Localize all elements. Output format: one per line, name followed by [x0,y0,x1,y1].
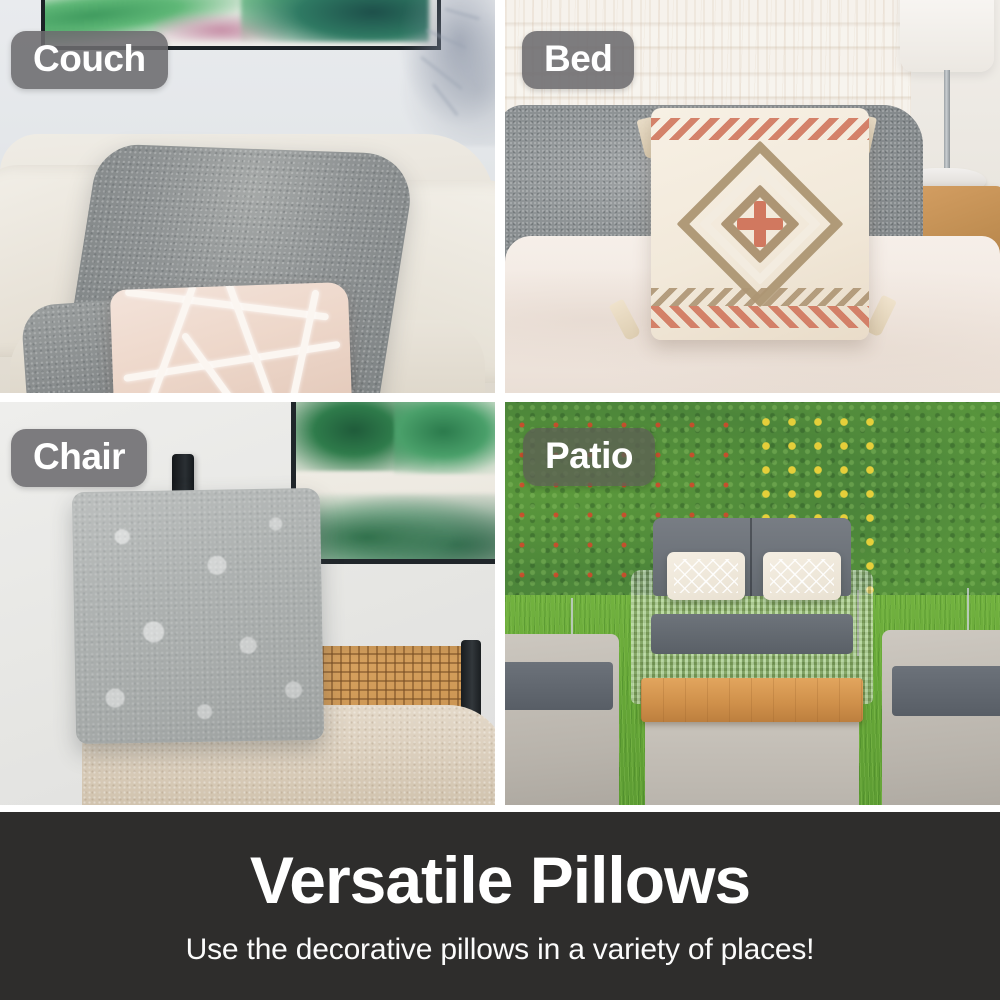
panel-chair: Chair [0,402,495,805]
pillow-zigzag-top [651,118,869,140]
badge-chair: Chair [11,429,147,487]
photo-panel-grid: Couch [0,0,1000,812]
badge-chair-label: Chair [33,436,125,478]
banner-subtitle: Use the decorative pillows in a variety … [186,933,815,967]
patio-chair-right-cushion [892,666,1000,716]
chair-photo: Chair [0,402,495,805]
cream-pillow-right [763,552,841,600]
loveseat-seat-cushions [651,614,853,654]
badge-couch: Couch [11,31,168,89]
couch-photo: Couch [0,0,495,393]
frosted-branch-decor [385,0,495,146]
pillow-zigzag-bottom [651,306,869,328]
panel-couch: Couch [0,0,495,393]
cream-pillow-left [667,552,745,600]
botanical-wall-art [291,402,495,564]
product-infographic: Couch [0,0,1000,1000]
banner-title: Versatile Pillows [250,847,750,913]
boho-diamond-pillow [651,108,869,340]
patio-chair-right [882,630,1000,805]
badge-patio-label: Patio [545,435,633,477]
patio-photo: Patio [505,402,1000,805]
bed-photo: Bed [505,0,1000,393]
lamp-stem [944,70,950,174]
pillow-center-cross [737,201,783,247]
patio-coffee-table [645,704,859,805]
gray-tufted-pillow [72,488,324,744]
lamp-shade [900,0,994,72]
sofa-body [0,134,495,393]
pillow-zigzag-tan [651,288,869,306]
badge-bed-label: Bed [544,38,612,80]
wood-table-top [641,678,863,722]
panel-bed: Bed [505,0,1000,393]
badge-couch-label: Couch [33,38,146,80]
art-foliage-lower [308,494,495,564]
bottom-banner: Versatile Pillows Use the decorative pil… [0,812,1000,1000]
badge-patio: Patio [523,428,655,486]
patio-chair-left [505,634,619,805]
blush-tufted-pillow [110,282,352,393]
patio-chair-left-cushion [505,662,613,710]
art-pink-wash [155,14,288,40]
badge-bed: Bed [522,31,634,89]
panel-patio: Patio [505,402,1000,805]
